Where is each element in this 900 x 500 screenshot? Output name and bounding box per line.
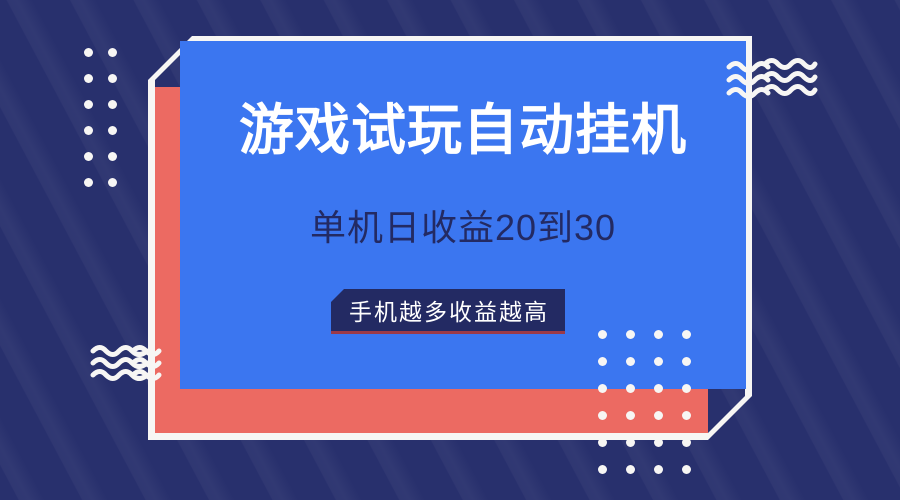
decor-dot: [108, 100, 117, 109]
decor-dot: [682, 465, 691, 474]
status-badge-label: 手机越多收益越高: [349, 293, 549, 327]
decor-dot: [682, 384, 691, 393]
status-badge: 手机越多收益越高: [331, 289, 565, 334]
decor-dot: [84, 100, 93, 109]
decor-dot: [682, 411, 691, 420]
decor-dot: [84, 152, 93, 161]
page-title: 游戏试玩自动挂机: [180, 100, 746, 161]
decor-dot: [598, 411, 607, 420]
decor-dot: [84, 178, 93, 187]
dot-grid-left: [84, 48, 132, 204]
decor-dot: [654, 411, 663, 420]
decor-dot: [654, 438, 663, 447]
decor-dot: [598, 330, 607, 339]
decor-dot: [654, 330, 663, 339]
decor-dot: [626, 465, 635, 474]
decor-dot: [108, 48, 117, 57]
decor-dot: [108, 178, 117, 187]
dot-grid-bottom-right: [598, 330, 710, 492]
decor-dot: [598, 438, 607, 447]
decor-dot: [598, 357, 607, 366]
decor-dot: [108, 126, 117, 135]
wave-icon: [130, 345, 164, 381]
poster-canvas: 游戏试玩自动挂机 单机日收益20到30 手机越多收益越高: [0, 0, 900, 500]
decor-dot: [626, 384, 635, 393]
decor-dot: [84, 74, 93, 83]
decor-dot: [598, 465, 607, 474]
decor-dot: [682, 438, 691, 447]
decor-dot: [682, 330, 691, 339]
decor-dot: [108, 74, 117, 83]
decor-dot: [654, 465, 663, 474]
decor-dot: [626, 330, 635, 339]
decor-dot: [682, 357, 691, 366]
decor-dot: [626, 411, 635, 420]
decor-dot: [84, 126, 93, 135]
decor-dot: [654, 384, 663, 393]
decor-dot: [654, 357, 663, 366]
decor-dot: [598, 384, 607, 393]
decor-dot: [626, 438, 635, 447]
wave-icon: [762, 57, 818, 97]
decor-dot: [626, 357, 635, 366]
poster-subtitle: 单机日收益20到30: [180, 208, 746, 248]
decor-dot: [108, 152, 117, 161]
decor-dot: [84, 48, 93, 57]
